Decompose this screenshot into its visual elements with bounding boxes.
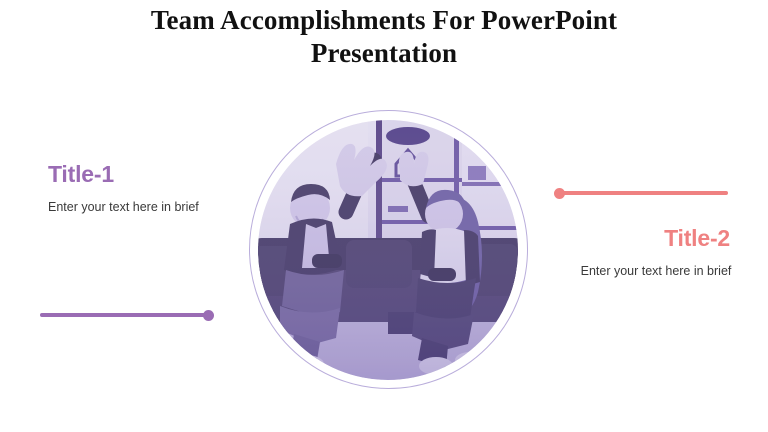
presentation-slide: Team Accomplishments For PowerPoint Pres… xyxy=(0,0,768,432)
right-content-block: Title-2 Enter your text here in brief xyxy=(500,224,752,280)
left-description: Enter your text here in brief xyxy=(48,199,298,216)
photo-illustration xyxy=(258,120,518,380)
left-title: Title-1 xyxy=(48,160,298,188)
right-description: Enter your text here in brief xyxy=(500,263,752,280)
right-connector-line xyxy=(558,191,728,195)
right-title: Title-2 xyxy=(500,224,752,252)
left-content-block: Title-1 Enter your text here in brief xyxy=(48,160,298,216)
left-connector-dot xyxy=(203,310,214,321)
page-title: Team Accomplishments For PowerPoint Pres… xyxy=(84,4,684,70)
center-photo xyxy=(258,120,518,380)
left-connector-line xyxy=(40,313,210,317)
right-connector-dot xyxy=(554,188,565,199)
